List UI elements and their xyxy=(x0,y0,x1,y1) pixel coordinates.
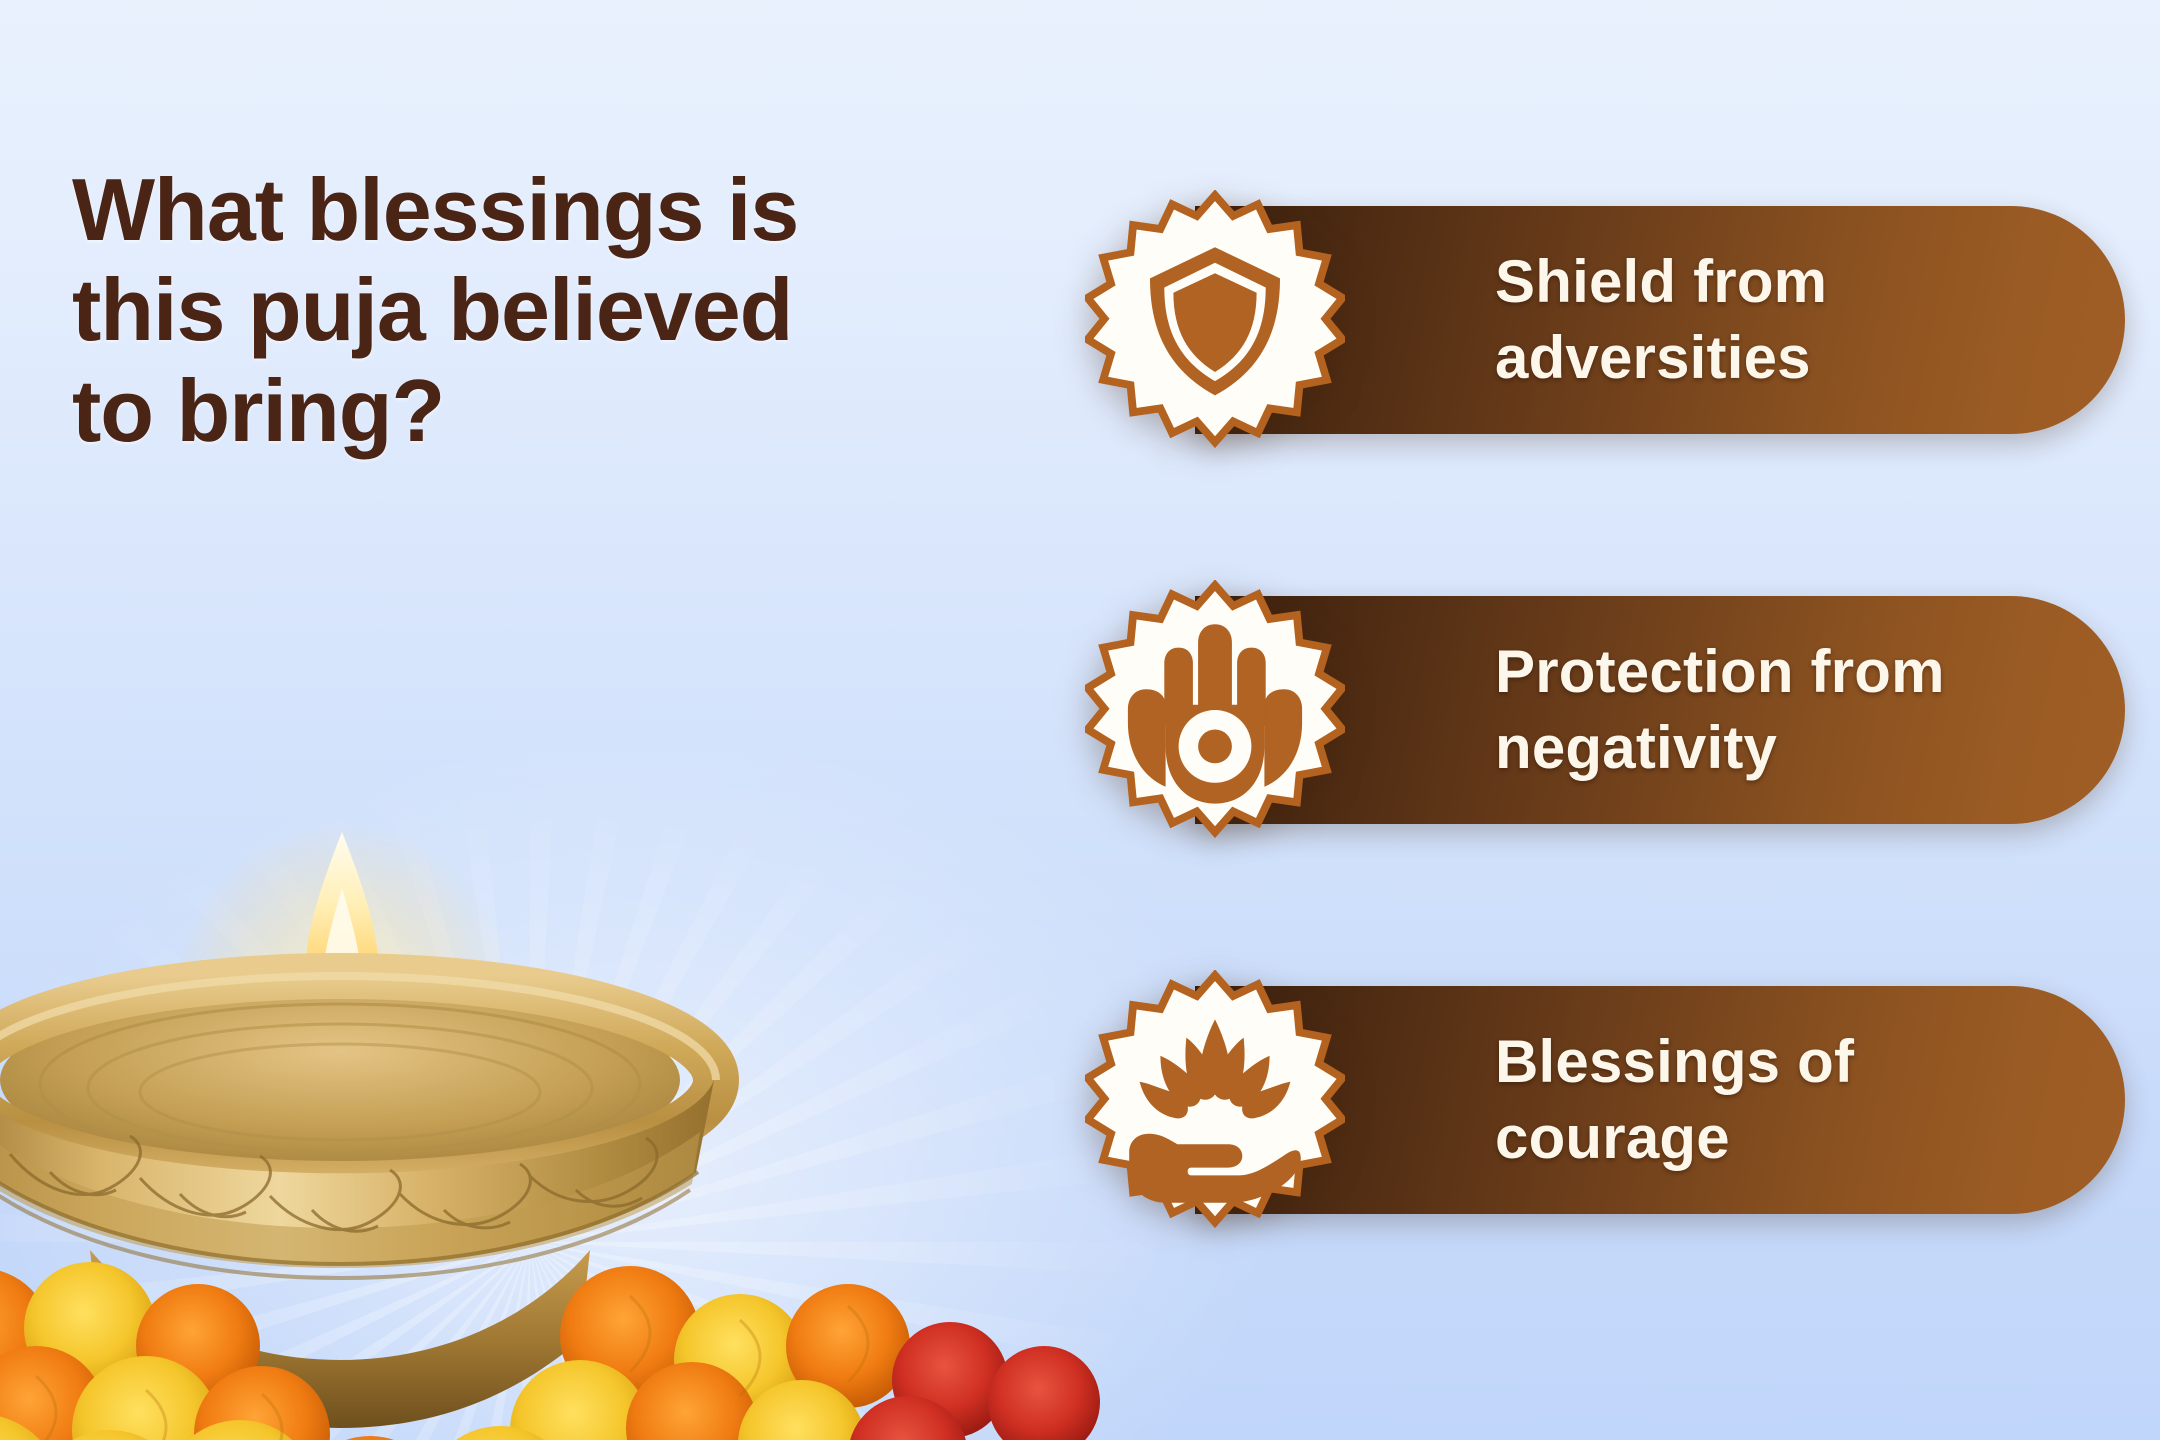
diya-lamp-photo xyxy=(0,780,1140,1440)
infographic-canvas: What blessings is this puja believed to … xyxy=(0,0,2160,1440)
benefit-item-hamsa[interactable]: Protection from negativity xyxy=(1085,580,2085,840)
benefit-label: Protection from negativity xyxy=(1495,634,1945,786)
hamsa-hand-icon-badge xyxy=(1085,580,1345,840)
benefit-label-line-2: negativity xyxy=(1495,714,1777,781)
benefit-label-line-2: courage xyxy=(1495,1104,1730,1171)
benefit-item-shield[interactable]: Shield from adversities xyxy=(1085,190,2085,450)
benefit-label-line-1: Protection from xyxy=(1495,638,1945,705)
page-title-line-1: What blessings is xyxy=(72,160,1072,260)
benefit-label-line-2: adversities xyxy=(1495,324,1811,391)
page-title-line-3: to bring? xyxy=(72,361,1072,461)
benefit-item-lotus[interactable]: Blessings of courage xyxy=(1085,970,2085,1230)
lotus-in-hand-icon-badge xyxy=(1085,970,1345,1230)
benefit-label: Blessings of courage xyxy=(1495,1024,1854,1176)
page-title: What blessings is this puja believed to … xyxy=(72,160,1072,461)
benefit-label-line-1: Shield from xyxy=(1495,248,1827,315)
page-title-line-2: this puja believed xyxy=(72,260,1072,360)
benefit-label: Shield from adversities xyxy=(1495,244,1827,396)
benefit-label-line-1: Blessings of xyxy=(1495,1028,1854,1095)
shield-icon-badge xyxy=(1085,190,1345,450)
benefits-list: Shield from adversities xyxy=(1085,190,2085,1230)
